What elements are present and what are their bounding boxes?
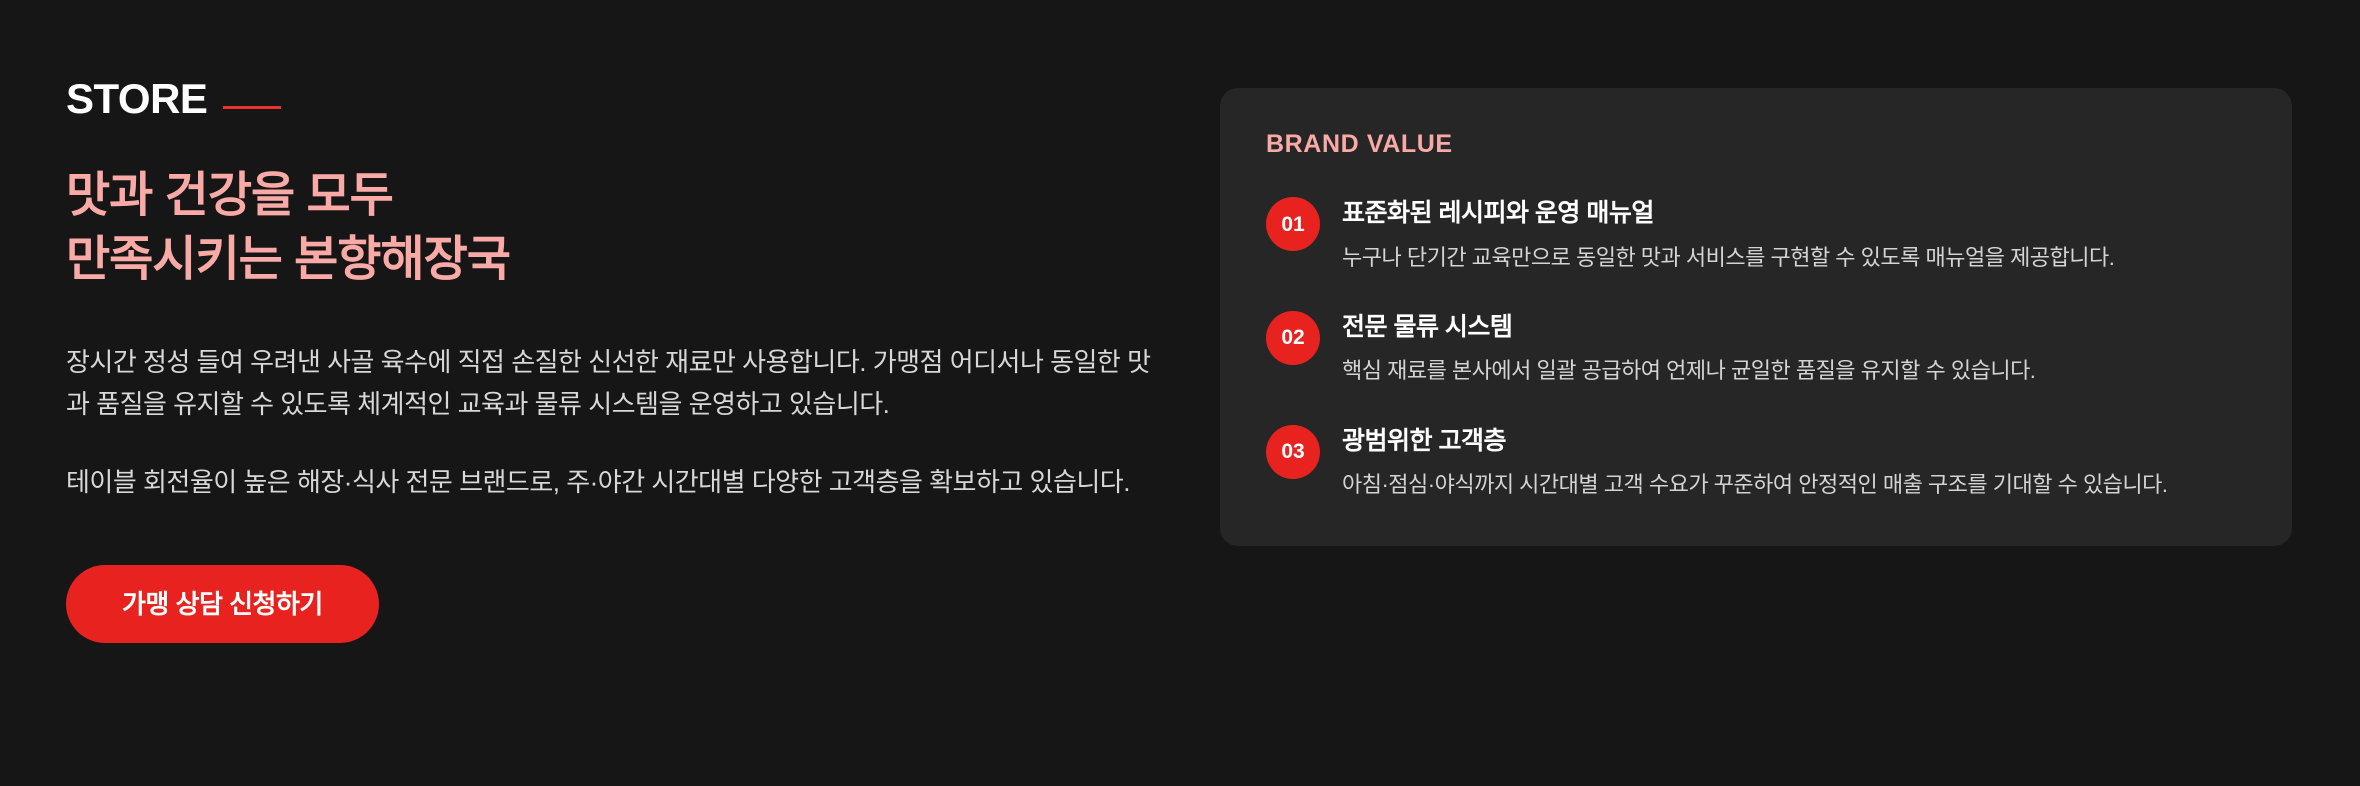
- value-item-title: 광범위한 고객층: [1342, 425, 2246, 458]
- store-brand-section: STORE 맛과 건강을 모두 만족시키는 본향해장국 장시간 정성 들여 우려…: [0, 0, 2360, 786]
- value-text-block: 전문 물류 시스템 핵심 재료를 본사에서 일괄 공급하여 언제나 균일한 품질…: [1342, 309, 2246, 389]
- headline-line-1: 맛과 건강을 모두: [66, 164, 1160, 228]
- brand-value-list: 01 표준화된 레시피와 운영 매뉴얼 누구나 단기간 교육만으로 동일한 맛과…: [1266, 195, 2246, 502]
- brand-value-card: BRAND VALUE 01 표준화된 레시피와 운영 매뉴얼 누구나 단기간 …: [1220, 88, 2292, 546]
- value-number-badge: 01: [1266, 197, 1320, 251]
- eyebrow-rule-divider: [223, 106, 281, 109]
- section-eyebrow: STORE: [66, 78, 1160, 120]
- body-paragraph-2: 테이블 회전율이 높은 해장·식사 전문 브랜드로, 주·야간 시간대별 다양한…: [66, 461, 1156, 503]
- value-item-description: 핵심 재료를 본사에서 일괄 공급하여 언제나 균일한 품질을 유지할 수 있습…: [1342, 354, 2246, 388]
- value-number-badge: 02: [1266, 311, 1320, 365]
- value-number-badge: 03: [1266, 425, 1320, 479]
- page-title: 맛과 건강을 모두 만족시키는 본향해장국: [66, 164, 1160, 293]
- value-item-title: 표준화된 레시피와 운영 매뉴얼: [1342, 197, 2246, 230]
- left-content-column: STORE 맛과 건강을 모두 만족시키는 본향해장국 장시간 정성 들여 우려…: [0, 0, 1160, 643]
- headline-line-2: 만족시키는 본향해장국: [66, 228, 1160, 292]
- value-item-description: 아침·점심·야식까지 시간대별 고객 수요가 꾸준하여 안정적인 매출 구조를 …: [1342, 468, 2246, 502]
- value-item-description: 누구나 단기간 교육만으로 동일한 맛과 서비스를 구현할 수 있도록 매뉴얼을…: [1342, 241, 2246, 275]
- value-text-block: 광범위한 고객층 아침·점심·야식까지 시간대별 고객 수요가 꾸준하여 안정적…: [1342, 423, 2246, 503]
- brand-value-kicker: BRAND VALUE: [1266, 130, 2246, 159]
- list-item: 01 표준화된 레시피와 운영 매뉴얼 누구나 단기간 교육만으로 동일한 맛과…: [1266, 195, 2246, 275]
- list-item: 03 광범위한 고객층 아침·점심·야식까지 시간대별 고객 수요가 꾸준하여 …: [1266, 423, 2246, 503]
- value-item-title: 전문 물류 시스템: [1342, 311, 2246, 344]
- list-item: 02 전문 물류 시스템 핵심 재료를 본사에서 일괄 공급하여 언제나 균일한…: [1266, 309, 2246, 389]
- value-text-block: 표준화된 레시피와 운영 매뉴얼 누구나 단기간 교육만으로 동일한 맛과 서비…: [1342, 195, 2246, 275]
- cta-container: 가맹 상담 신청하기: [66, 565, 1160, 643]
- eyebrow-label: STORE: [66, 78, 207, 120]
- franchise-inquiry-button[interactable]: 가맹 상담 신청하기: [66, 565, 379, 643]
- body-paragraph-1: 장시간 정성 들여 우려낸 사골 육수에 직접 손질한 신선한 재료만 사용합니…: [66, 341, 1156, 425]
